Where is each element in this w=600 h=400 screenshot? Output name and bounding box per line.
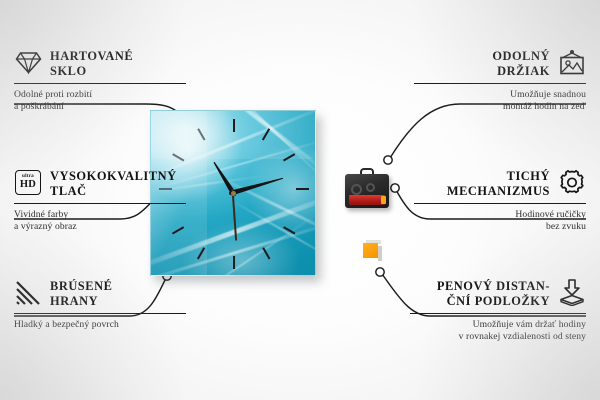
feature-divider xyxy=(14,313,186,314)
connector-node-right-bottom xyxy=(376,268,384,276)
clock-tick xyxy=(296,188,309,190)
feature-title: ODOLNÝ DRŽIAK xyxy=(414,48,550,78)
feature-title: BRÚSENÉ HRANY xyxy=(50,278,186,308)
feature-durable-hanger: ODOLNÝ DRŽIAK Umožňuje snadnou montáž ho… xyxy=(414,48,586,112)
foam-pad-side xyxy=(378,246,382,261)
feature-description: Odolné proti rozbití a poškrábání xyxy=(14,89,186,112)
feature-title: TICHÝ MECHANIZMUS xyxy=(414,168,550,198)
diamond-icon xyxy=(14,48,42,76)
feature-divider xyxy=(410,313,586,314)
feature-divider xyxy=(414,83,586,84)
feature-hardened-glass: HARTOVANÉ SKLO Odolné proti rozbití a po… xyxy=(14,48,186,112)
foam-pad-front xyxy=(363,243,378,258)
foam-spacer-pad xyxy=(363,243,382,262)
feature-description: Hladký a bezpečný povrch xyxy=(14,319,186,331)
connector-node-right-middle xyxy=(391,184,399,192)
clock-tick xyxy=(233,256,235,269)
foam-spacer-arrow-icon xyxy=(558,278,586,306)
beveled-edges-icon xyxy=(14,278,42,306)
feature-description: Vividné farby a výrazný obraz xyxy=(14,209,186,232)
feature-description: Umožňuje snadnou montáž hodin na zeď xyxy=(414,89,586,112)
feature-divider xyxy=(14,203,186,204)
feature-title: HARTOVANÉ SKLO xyxy=(50,48,186,78)
mechanism-battery xyxy=(349,195,385,205)
mechanism-gear-small-icon xyxy=(366,183,375,192)
feature-silent-mechanism: TICHÝ MECHANIZMUS Hodinové ručičky bez z… xyxy=(414,168,586,232)
ultra-hd-badge-bottom-label: HD xyxy=(20,180,36,191)
mechanism-battery-terminal xyxy=(381,196,386,204)
connector-node-right-top xyxy=(384,156,392,164)
mechanism-gear-large-icon xyxy=(351,184,362,195)
feature-description: Hodinové ručičky bez zvuku xyxy=(414,209,586,232)
feature-title: PENOVÝ DISTAN- ČNÍ PODLOŽKY xyxy=(410,278,550,308)
feature-foam-spacers: PENOVÝ DISTAN- ČNÍ PODLOŽKY Umožňuje vám… xyxy=(410,278,586,342)
feature-divider xyxy=(414,203,586,204)
feature-divider xyxy=(14,83,186,84)
feature-title: VYSOKOKVALITNÝ TLAČ xyxy=(50,168,186,198)
feature-description: Umožňuje vám držať hodiny v rovnakej vzd… xyxy=(410,319,586,342)
gear-icon xyxy=(558,168,586,196)
clock-center-cap xyxy=(231,191,236,196)
clock-tick xyxy=(233,119,235,132)
feature-beveled-edges: BRÚSENÉ HRANY Hladký a bezpečný povrch xyxy=(14,278,186,331)
clock-movement-mechanism xyxy=(345,168,389,208)
ultra-hd-badge-icon: ultra HD xyxy=(14,168,42,196)
infographic-canvas: HARTOVANÉ SKLO Odolné proti rozbití a po… xyxy=(0,0,600,400)
mechanism-body xyxy=(345,174,389,208)
feature-high-quality-print: ultra HD VYSOKOKVALITNÝ TLAČ Vividné far… xyxy=(14,168,186,232)
wall-hanger-frame-icon xyxy=(558,48,586,76)
